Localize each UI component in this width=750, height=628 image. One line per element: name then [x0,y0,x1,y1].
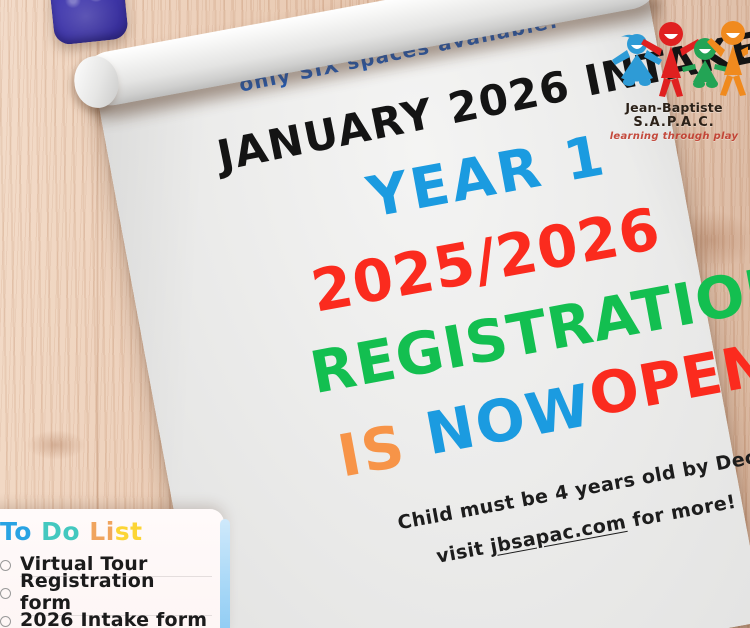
school-logo: Jean-Baptiste S.A.P.A.C. learning throug… [600,14,748,146]
logo-abbreviation: S.A.P.A.C. [600,115,748,130]
checkbox-icon[interactable] [0,616,11,627]
todo-list-card[interactable]: To Do List Virtual Tour Registration for… [0,509,224,628]
visit-suffix: for more! [624,491,738,533]
website-link[interactable]: jbsapac.com [489,511,628,558]
poster-now-word: NOW [421,376,597,464]
todo-title-part: Do [41,517,80,546]
list-item[interactable]: Registration form [0,579,212,607]
todo-title-part: st [115,517,143,546]
list-item-label: 2026 Intake form [20,609,212,628]
poster-scene: only SIX spaces available! JANUARY 2026 … [0,0,750,628]
todo-items: Virtual Tour Registration form 2026 Inta… [0,551,212,628]
logo-tagline: learning through play [600,131,748,142]
poster-is-word: IS [334,416,411,485]
todo-title-part: Li [89,517,115,546]
visit-prefix: visit [435,536,493,568]
logo-children-figures [600,14,748,106]
todo-list-title: To Do List [0,517,143,546]
logo-figure-blue [612,34,662,86]
checkbox-icon[interactable] [0,560,11,571]
list-item[interactable]: 2026 Intake form [0,607,212,628]
checkbox-icon[interactable] [0,588,11,599]
logo-school-name: Jean-Baptiste [600,100,748,115]
todo-title-part: To [0,517,32,546]
todo-card-spine [220,519,230,628]
